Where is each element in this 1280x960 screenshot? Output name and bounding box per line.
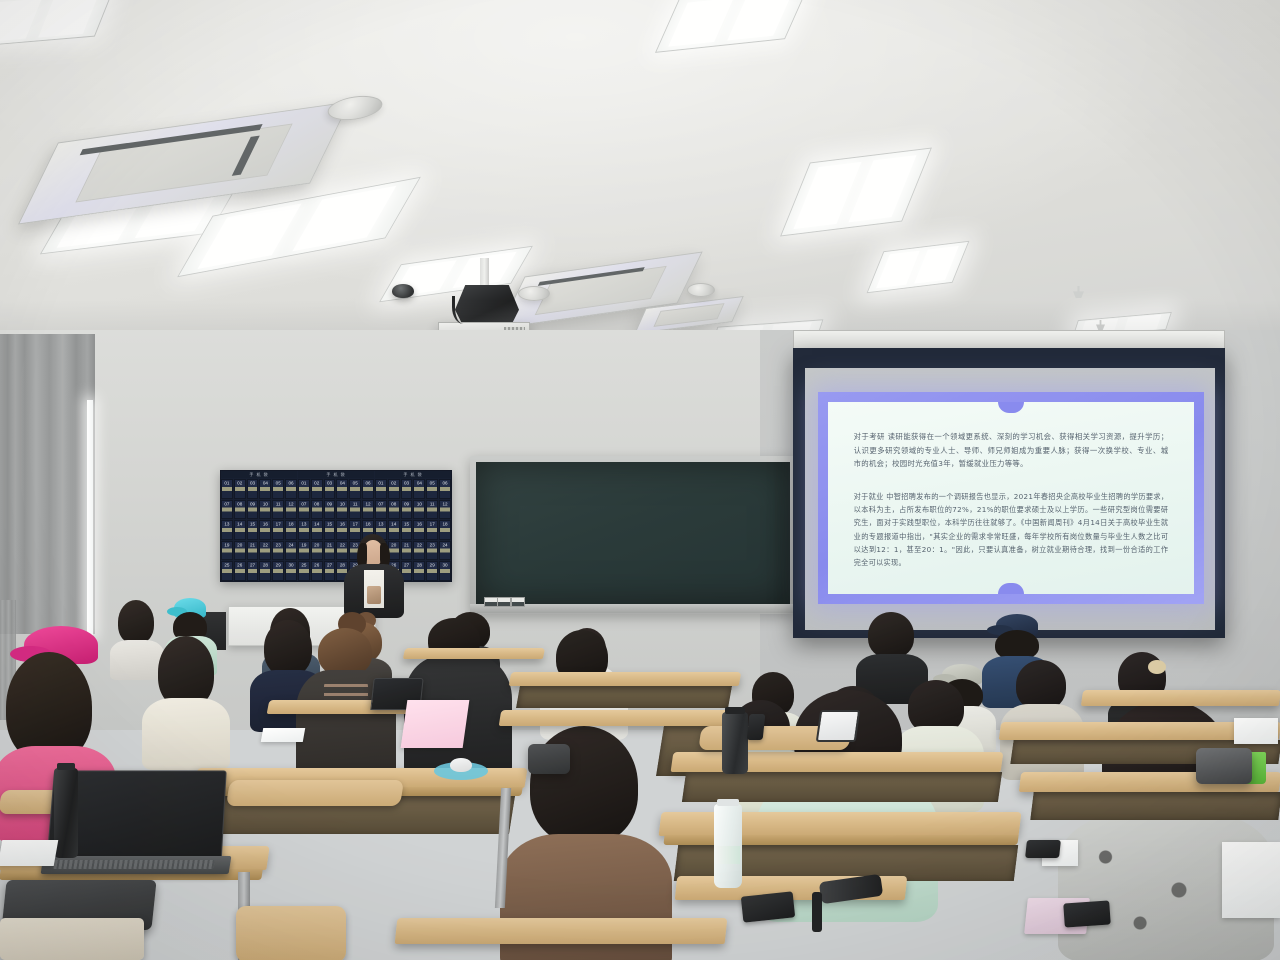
computer-mouse[interactable]: [450, 758, 472, 772]
slide-notch-bottom: [998, 583, 1024, 594]
hair-accessory: [1148, 660, 1166, 674]
window-curtain: [0, 334, 95, 634]
pocket-column: 手 机 袋 010203040506 070809101112 13141516…: [221, 471, 297, 581]
tablet[interactable]: [816, 710, 860, 742]
desk-shelf: [1030, 792, 1280, 820]
presenter-shirt-graphic: [367, 586, 381, 604]
desk: [499, 710, 732, 726]
chair-back: [226, 780, 404, 806]
desk-shelf: [516, 686, 732, 708]
water-bottle: [54, 768, 78, 858]
bottle-label: [716, 846, 740, 864]
desk: [671, 752, 1004, 772]
student-mid-row: [142, 636, 230, 766]
smartphone[interactable]: [747, 714, 766, 740]
student-cream-top: [142, 698, 230, 770]
dome-security-camera: [392, 284, 414, 298]
pocket-column-header: 手 机 袋: [375, 471, 451, 478]
bag: [528, 744, 570, 774]
bag: [1196, 748, 1252, 784]
paper-handout: [1222, 842, 1280, 918]
desk-shelf: [682, 772, 1002, 802]
ceiling-speaker: [518, 286, 550, 301]
umbrella-handle: [812, 892, 822, 932]
smartphone[interactable]: [741, 891, 795, 922]
classroom-photo: 手 机 袋 010203040506 070809101112 13141516…: [0, 0, 1280, 960]
smartphone[interactable]: [1063, 900, 1111, 927]
paper-handout: [401, 700, 470, 748]
paper-handout: [0, 840, 58, 866]
chalk-eraser: [511, 597, 525, 607]
slide-notch-top: [998, 402, 1024, 413]
smartphone[interactable]: [1025, 840, 1061, 858]
paper-handout: [261, 728, 305, 742]
desk: [509, 672, 741, 686]
desk: [403, 648, 545, 659]
desk: [659, 812, 1022, 836]
student-hair: [868, 612, 914, 658]
slide-paragraph-1: 对于考研 读研能获得在一个领域更系统、深刻的学习机会、获得相关学习资源，提升学历…: [854, 430, 1169, 471]
presenter-student: [336, 534, 412, 618]
water-bottle: [722, 712, 748, 774]
paper-handout: [1234, 718, 1278, 744]
student-hair: [318, 628, 372, 676]
chalk-eraser: [497, 597, 511, 607]
chalk-eraser: [484, 597, 498, 607]
ceiling-speaker: [687, 283, 715, 297]
desk: [1081, 690, 1280, 706]
blackboard: [476, 462, 790, 604]
open-laptop-base[interactable]: [41, 856, 232, 874]
tote-bag: [0, 918, 144, 960]
slide-paragraph-2: 对于就业 中智招聘发布的一个调研报告也显示，2021年春招央企高校毕业生招聘的学…: [854, 490, 1169, 569]
slide-frame: 对于考研 读研能获得在一个领域更系统、深刻的学习机会、获得相关学习资源，提升学历…: [818, 392, 1204, 604]
pocket-column-header: 手 机 袋: [298, 471, 374, 478]
window-light-gap: [87, 400, 93, 636]
chair-back: [236, 906, 346, 960]
slide-body: 对于考研 读研能获得在一个领域更系统、深刻的学习机会、获得相关学习资源，提升学历…: [828, 402, 1194, 594]
desk: [395, 918, 728, 944]
pocket-column-header: 手 机 袋: [221, 471, 297, 478]
